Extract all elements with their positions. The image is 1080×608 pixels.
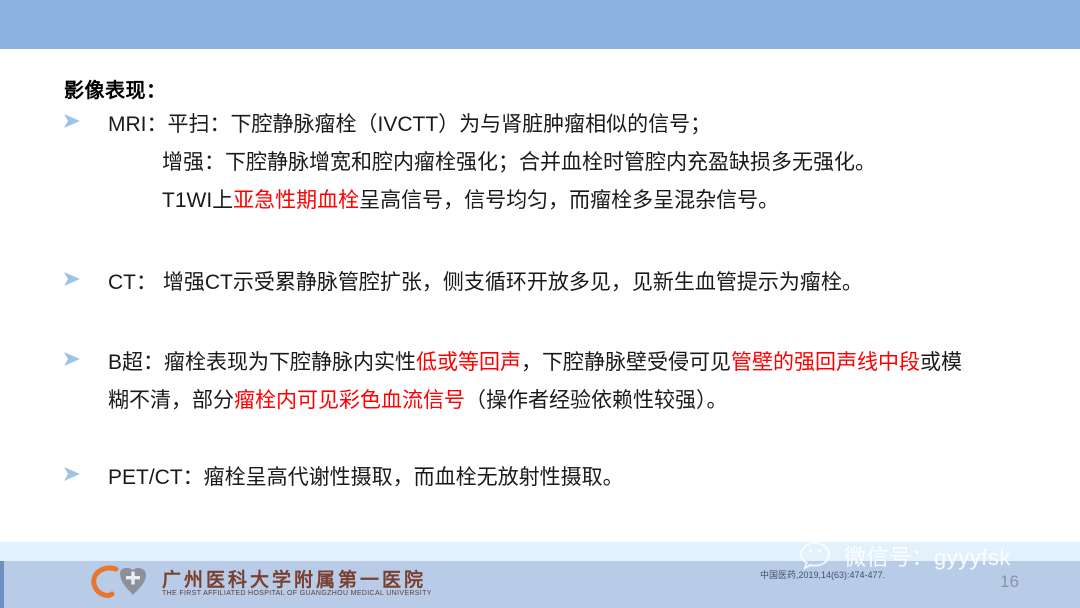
ultrasound-label: B超： bbox=[108, 351, 164, 374]
mri-line1-rest: 平扫：下腔静脉瘤栓（IVCTT）为与肾脏肿瘤相似的信号； bbox=[168, 113, 712, 136]
ultrasound-line2-a: 糊不清，部分 bbox=[108, 389, 234, 412]
petct-label: PET/CT： bbox=[108, 466, 204, 489]
bullet-arrow-icon bbox=[62, 350, 82, 368]
hospital-name-cn: 广州医科大学附属第一医院 bbox=[162, 565, 426, 592]
mri-label: MRI： bbox=[108, 113, 168, 136]
bullet-text-ct: CT： 增强CT示受累静脉管腔扩张，侧支循环开放多见，见新生血管提示为瘤栓。 bbox=[108, 264, 1042, 302]
top-decorative-band bbox=[0, 0, 1080, 49]
page-number: 16 bbox=[1000, 572, 1019, 592]
hospital-logo-icon bbox=[90, 565, 156, 599]
ultrasound-line1-c: 或模 bbox=[920, 351, 962, 374]
ct-label: CT： bbox=[108, 271, 157, 294]
ultrasound-highlight-1: 低或等回声 bbox=[416, 351, 521, 374]
ultrasound-highlight-3: 瘤栓内可见彩色血流信号 bbox=[234, 389, 465, 412]
mri-line3-a: T1WI上 bbox=[162, 189, 233, 212]
bullet-text-mri-line1: MRI：平扫：下腔静脉瘤栓（IVCTT）为与肾脏肿瘤相似的信号； bbox=[108, 106, 1042, 144]
bullet-text-petct: PET/CT：瘤栓呈高代谢性摄取，而血栓无放射性摄取。 bbox=[108, 459, 1042, 497]
bullet-row-petct: PET/CT：瘤栓呈高代谢性摄取，而血栓无放射性摄取。 bbox=[62, 459, 1042, 497]
ct-text: 增强CT示受累静脉管腔扩张，侧支循环开放多见，见新生血管提示为瘤栓。 bbox=[157, 271, 863, 294]
bullet-row-ct: CT： 增强CT示受累静脉管腔扩张，侧支循环开放多见，见新生血管提示为瘤栓。 bbox=[62, 264, 1042, 302]
ultrasound-line2-b: （操作者经验依赖性较强）。 bbox=[465, 389, 728, 412]
mri-line3-b: 呈高信号，信号均匀，而瘤栓多呈混杂信号。 bbox=[359, 189, 779, 212]
bullet-group-petct: PET/CT：瘤栓呈高代谢性摄取，而血栓无放射性摄取。 bbox=[62, 459, 1042, 497]
citation-reference: 中国医药,2019,14(63):474-477. bbox=[760, 568, 885, 581]
bullet-group-ultrasound: B超：瘤栓表现为下腔静脉内实性低或等回声，下腔静脉壁受侵可见管壁的强回声线中段或… bbox=[62, 344, 1042, 420]
ultrasound-line1-a: 瘤栓表现为下腔静脉内实性 bbox=[164, 351, 416, 374]
mri-line3-highlight: 亚急性期血栓 bbox=[233, 189, 359, 212]
ultrasound-line2: 糊不清，部分瘤栓内可见彩色血流信号（操作者经验依赖性较强）。 bbox=[108, 382, 1042, 420]
bullet-arrow-icon bbox=[62, 112, 82, 130]
bottom-light-strip bbox=[0, 542, 1080, 561]
bullet-arrow-icon bbox=[62, 465, 82, 483]
mri-line2: 增强：下腔静脉增宽和腔内瘤栓强化；合并血栓时管腔内充盈缺损多无强化。 bbox=[162, 144, 1042, 182]
ultrasound-highlight-2: 管壁的强回声线中段 bbox=[731, 351, 920, 374]
bullet-text-ultrasound-line1: B超：瘤栓表现为下腔静脉内实性低或等回声，下腔静脉壁受侵可见管壁的强回声线中段或… bbox=[108, 344, 1042, 382]
bullet-row-ultrasound: B超：瘤栓表现为下腔静脉内实性低或等回声，下腔静脉壁受侵可见管壁的强回声线中段或… bbox=[62, 344, 1042, 382]
bullet-arrow-icon bbox=[62, 270, 82, 288]
mri-line3: T1WI上亚急性期血栓呈高信号，信号均匀，而瘤栓多呈混杂信号。 bbox=[162, 182, 1042, 220]
bottom-band-left-accent bbox=[0, 561, 4, 608]
slide-content: 影像表现： MRI：平扫：下腔静脉瘤栓（IVCTT）为与肾脏肿瘤相似的信号； 增… bbox=[0, 49, 1080, 542]
petct-text: 瘤栓呈高代谢性摄取，而血栓无放射性摄取。 bbox=[204, 466, 624, 489]
ultrasound-line1-b: ，下腔静脉壁受侵可见 bbox=[521, 351, 731, 374]
bullet-group-ct: CT： 增强CT示受累静脉管腔扩张，侧支循环开放多见，见新生血管提示为瘤栓。 bbox=[62, 264, 1042, 302]
hospital-name-en: THE FIRST AFFILIATED HOSPITAL OF GUANGZH… bbox=[162, 590, 432, 597]
bullet-group-mri: MRI：平扫：下腔静脉瘤栓（IVCTT）为与肾脏肿瘤相似的信号； 增强：下腔静脉… bbox=[62, 106, 1042, 220]
bullet-row-mri: MRI：平扫：下腔静脉瘤栓（IVCTT）为与肾脏肿瘤相似的信号； bbox=[62, 106, 1042, 144]
hospital-logo: 广州医科大学附属第一医院 THE FIRST AFFILIATED HOSPIT… bbox=[90, 563, 390, 605]
presentation-slide: 影像表现： MRI：平扫：下腔静脉瘤栓（IVCTT）为与肾脏肿瘤相似的信号； 增… bbox=[0, 0, 1080, 608]
page-title: 影像表现： bbox=[64, 74, 167, 103]
